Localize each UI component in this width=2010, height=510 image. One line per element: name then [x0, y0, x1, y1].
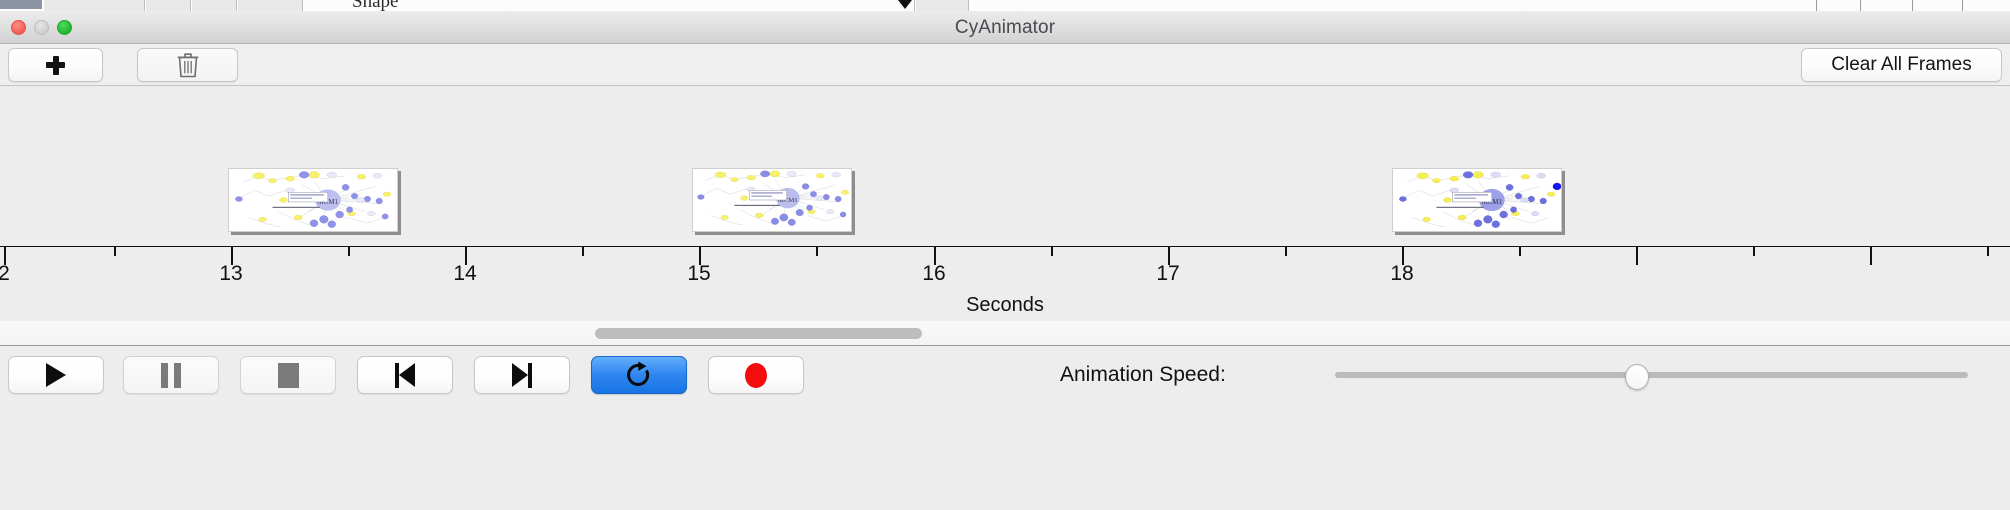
cyanimator-window: Shape CyAnimator Clear All Frames: [0, 0, 2010, 510]
axis-tick-minor: [1285, 247, 1287, 256]
record-icon: [745, 363, 767, 388]
axis-tick-label: 18: [1390, 262, 1413, 286]
skip-forward-icon: [512, 363, 532, 388]
background-window-dark-chunk: [0, 0, 42, 9]
background-window-label: Shape: [352, 0, 398, 11]
slider-track[interactable]: [1335, 372, 1968, 378]
axis-tick-minor: [816, 247, 818, 256]
background-window-strip: Shape: [0, 0, 2010, 11]
background-window-tick: [1816, 0, 1817, 11]
axis-title: Seconds: [0, 294, 2010, 317]
background-window-chunk: [192, 0, 237, 11]
pause-button[interactable]: [123, 356, 219, 394]
axis-tick-label: 2: [0, 262, 10, 286]
loop-icon: [625, 361, 653, 389]
axis-tick-label: 16: [922, 262, 945, 286]
clear-all-frames-button[interactable]: Clear All Frames: [1801, 48, 2002, 82]
background-window-chunk: [970, 0, 2010, 11]
skip-to-start-button[interactable]: [357, 356, 453, 394]
axis-tick-minor: [1753, 247, 1755, 256]
playback-control-bar: Animation Speed:: [0, 346, 2010, 510]
axis-tick-label: 13: [219, 262, 242, 286]
axis-tick-label: 17: [1156, 262, 1179, 286]
axis-tick-label: 14: [453, 262, 476, 286]
axis-tick-minor: [114, 247, 116, 256]
play-button[interactable]: [8, 356, 104, 394]
network-thumbnail-image: MCM1: [693, 169, 851, 231]
axis-tick-minor: [1051, 247, 1053, 256]
titlebar[interactable]: CyAnimator: [0, 11, 2010, 44]
scrollbar-track[interactable]: [0, 321, 2010, 346]
network-thumbnail-image: MCM1: [1393, 169, 1561, 231]
axis-tick-minor: [1987, 247, 1989, 256]
background-window-tick: [1912, 0, 1913, 11]
axis-tick-minor: [348, 247, 350, 256]
timeline-panel[interactable]: MCM1: [0, 86, 2010, 321]
background-window-tick: [1962, 0, 1963, 11]
network-thumbnail-image: MCM1: [229, 169, 397, 231]
slider-knob[interactable]: [1625, 364, 1649, 390]
trash-icon: [177, 52, 199, 78]
frame-thumbnail[interactable]: MCM1: [228, 168, 398, 232]
animation-speed-slider[interactable]: [1335, 356, 1968, 394]
background-window-chunk: [44, 0, 145, 11]
plus-icon: [46, 56, 65, 75]
stop-icon: [278, 363, 299, 388]
axis-tick-minor: [582, 247, 584, 256]
scrollbar-thumb[interactable]: [595, 328, 922, 339]
axis-tick-major: [1636, 247, 1638, 265]
timeline-axis: [0, 246, 2010, 247]
background-window-chunk: [146, 0, 191, 11]
axis-tick-minor: [1519, 247, 1521, 256]
stop-button[interactable]: [240, 356, 336, 394]
axis-tick-label: 15: [687, 262, 710, 286]
background-window-arrow-icon: [898, 0, 912, 9]
loop-button[interactable]: [591, 356, 687, 394]
animation-speed-label: Animation Speed:: [1060, 356, 1226, 394]
frame-thumbnail[interactable]: MCM1: [1392, 168, 1562, 232]
skip-back-icon: [395, 363, 415, 388]
axis-tick-major: [1870, 247, 1872, 265]
add-frame-button[interactable]: [8, 48, 103, 82]
frame-thumbnail[interactable]: MCM1: [692, 168, 852, 232]
play-icon: [46, 363, 66, 387]
pause-icon: [161, 363, 181, 388]
delete-frame-button[interactable]: [137, 48, 238, 82]
background-window-chunk: [916, 0, 969, 11]
window-title: CyAnimator: [0, 11, 2010, 44]
record-button[interactable]: [708, 356, 804, 394]
toolbar: Clear All Frames: [0, 44, 2010, 86]
skip-to-end-button[interactable]: [474, 356, 570, 394]
background-window-chunk: [238, 0, 303, 11]
background-window-tick: [1860, 0, 1861, 11]
